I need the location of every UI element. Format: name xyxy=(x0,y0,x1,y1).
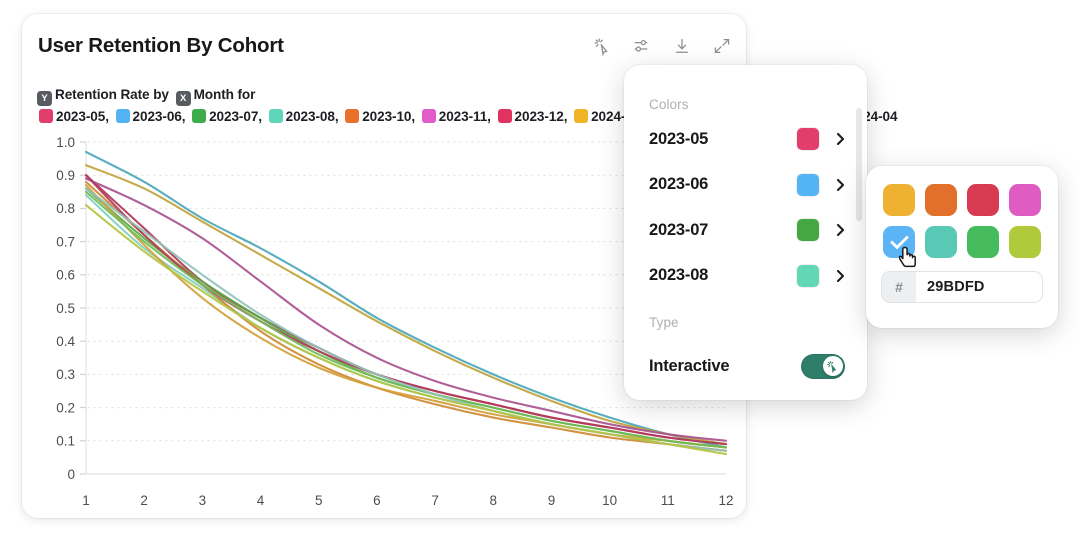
color-row-swatch[interactable] xyxy=(797,174,819,196)
sliders-icon[interactable] xyxy=(630,34,654,58)
magic-cursor-icon[interactable] xyxy=(590,34,614,58)
y-tick-label: 0.5 xyxy=(56,301,75,316)
legend-swatch xyxy=(192,109,206,123)
legend-item[interactable]: 2023-07, xyxy=(190,109,266,124)
x-tick-label: 4 xyxy=(257,493,265,508)
color-row-2023-08[interactable]: 2023-08 xyxy=(649,262,845,290)
color-row-2023-07[interactable]: 2023-07 xyxy=(649,216,845,244)
hex-color-field[interactable]: # 29BDFD xyxy=(882,272,1042,302)
colors-section-label: Colors xyxy=(649,97,689,112)
color-row-label: 2023-05 xyxy=(649,130,797,149)
color-swatch-magenta[interactable] xyxy=(1009,184,1041,216)
hex-color-input[interactable]: 29BDFD xyxy=(916,272,1042,302)
color-swatch-grid xyxy=(882,184,1042,258)
hex-prefix-label: # xyxy=(882,272,916,302)
y-tick-label: 0.1 xyxy=(56,434,75,449)
color-swatch-teal[interactable] xyxy=(925,226,957,258)
color-swatch-lime[interactable] xyxy=(1009,226,1041,258)
chevron-right-icon[interactable] xyxy=(835,178,845,192)
chevron-right-icon[interactable] xyxy=(835,223,845,237)
screenshot-root: User Retention By Cohort xyxy=(0,0,1080,536)
color-row-swatch[interactable] xyxy=(797,265,819,287)
card-toolbar xyxy=(590,34,734,58)
legend-swatch xyxy=(269,109,283,123)
legend-swatch xyxy=(39,109,53,123)
legend-item-label: 2023-08, xyxy=(286,109,343,124)
legend-item-label: 2023-06, xyxy=(133,109,190,124)
legend-swatch xyxy=(345,109,359,123)
legend-item-label: 2023-10, xyxy=(362,109,419,124)
type-section-label: Type xyxy=(649,315,679,330)
interactive-toggle[interactable] xyxy=(801,354,845,379)
y-tick-label: 0.2 xyxy=(56,400,75,415)
toggle-knob xyxy=(823,356,843,376)
legend-item-label: 2023-05, xyxy=(56,109,113,124)
x-tick-label: 7 xyxy=(431,493,439,508)
color-swatch-amber[interactable] xyxy=(883,184,915,216)
x-tick-label: 8 xyxy=(490,493,498,508)
x-tick-label: 5 xyxy=(315,493,323,508)
color-row-2023-05[interactable]: 2023-05 xyxy=(649,125,845,153)
y-axis-label: Retention Rate by xyxy=(55,87,169,102)
y-tick-label: 0.4 xyxy=(56,334,75,349)
y-tick-label: 0.8 xyxy=(56,201,75,216)
legend-swatch xyxy=(116,109,130,123)
x-tick-label: 11 xyxy=(661,493,675,508)
color-row-swatch[interactable] xyxy=(797,219,819,241)
color-picker-popup: # 29BDFD xyxy=(866,166,1058,328)
y-tick-label: 1.0 xyxy=(56,135,75,150)
legend-item-label: 2023-11, xyxy=(439,109,495,124)
x-tick-label: 6 xyxy=(373,493,381,508)
chevron-right-icon[interactable] xyxy=(835,269,845,283)
interactive-toggle-row[interactable]: Interactive xyxy=(649,352,845,380)
legend-item[interactable]: 2023-11, xyxy=(420,109,495,124)
legend-swatch xyxy=(422,109,436,123)
y-axis-badge: Y xyxy=(37,91,52,106)
color-swatch-green[interactable] xyxy=(967,226,999,258)
x-tick-label: 9 xyxy=(548,493,556,508)
y-tick-label: 0.3 xyxy=(56,367,75,382)
x-tick-label: 3 xyxy=(199,493,207,508)
x-tick-label: 1 xyxy=(82,493,90,508)
color-row-label: 2023-07 xyxy=(649,221,797,240)
legend-swatch xyxy=(498,109,512,123)
color-row-2023-06[interactable]: 2023-06 xyxy=(649,171,845,199)
legend-item-label: 2023-12, xyxy=(515,109,572,124)
magic-cursor-icon xyxy=(826,360,839,373)
chart-options-popup: Colors 2023-052023-062023-072023-08 Type… xyxy=(624,65,867,400)
x-axis-badge: X xyxy=(176,91,191,106)
legend-item[interactable]: 2023-08, xyxy=(267,109,343,124)
interactive-label: Interactive xyxy=(649,357,801,376)
y-tick-label: 0.9 xyxy=(56,168,75,183)
color-row-swatch[interactable] xyxy=(797,128,819,150)
color-swatch-crimson[interactable] xyxy=(967,184,999,216)
color-row-label: 2023-08 xyxy=(649,266,797,285)
color-row-label: 2023-06 xyxy=(649,175,797,194)
popup-scrollbar[interactable] xyxy=(856,108,862,221)
legend-item[interactable]: 2023-05, xyxy=(37,109,113,124)
legend-item[interactable]: 2023-06, xyxy=(114,109,190,124)
page-title: User Retention By Cohort xyxy=(38,34,284,58)
x-tick-label: 10 xyxy=(602,493,617,508)
y-tick-label: 0.6 xyxy=(56,268,75,283)
legend-item-label: 2023-07, xyxy=(209,109,266,124)
expand-icon[interactable] xyxy=(710,34,734,58)
x-tick-label: 12 xyxy=(718,493,733,508)
x-tick-label: 2 xyxy=(140,493,148,508)
y-tick-label: 0.7 xyxy=(56,234,75,249)
y-tick-label: 0 xyxy=(67,467,75,482)
color-swatch-blue[interactable] xyxy=(883,226,915,258)
x-axis-label: Month for xyxy=(194,87,256,102)
legend-item[interactable]: 2023-10, xyxy=(343,109,419,124)
legend-item[interactable]: 2023-12, xyxy=(496,109,572,124)
download-icon[interactable] xyxy=(670,34,694,58)
color-swatch-orange[interactable] xyxy=(925,184,957,216)
legend-swatch xyxy=(574,109,588,123)
chevron-right-icon[interactable] xyxy=(835,132,845,146)
